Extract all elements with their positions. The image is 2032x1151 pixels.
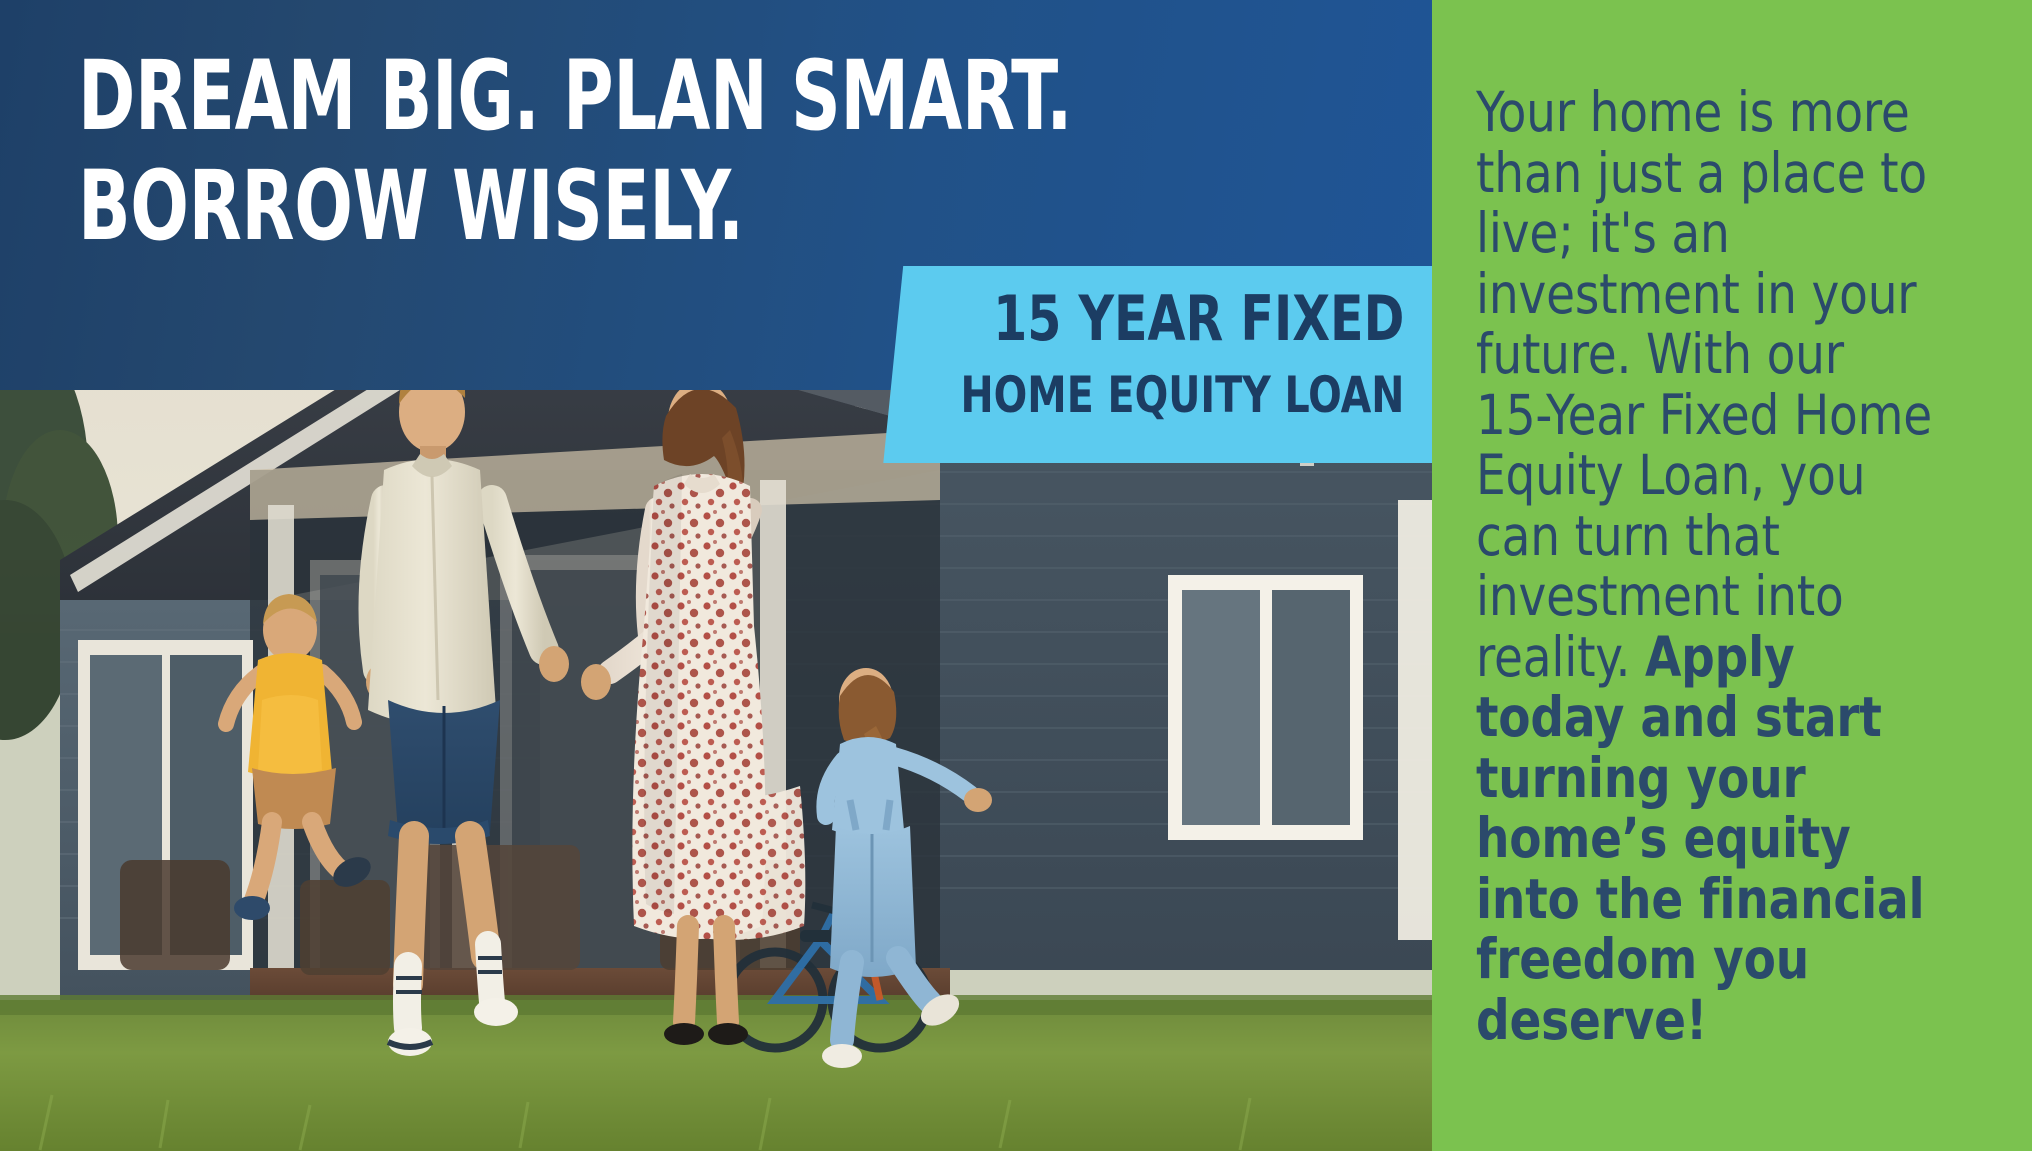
headline-line-2: BORROW WISELY.: [78, 158, 1102, 256]
badge-term-label: 15 YEAR FIXED: [993, 288, 1404, 350]
green-copy-panel: Your home is more than just a place to l…: [1432, 0, 2032, 1151]
panel-body-bold: Apply today and start turning your home’…: [1476, 625, 1924, 1052]
loan-product-badge: 15 YEAR FIXED HOME EQUITY LOAN: [880, 266, 1432, 463]
headline-line-1: DREAM BIG. PLAN SMART.: [78, 48, 1102, 146]
banner-main-area: DREAM BIG. PLAN SMART. BORROW WISELY. 15…: [0, 0, 1432, 1151]
page-headline: DREAM BIG. PLAN SMART. BORROW WISELY.: [78, 48, 1102, 256]
home-equity-loan-banner: DREAM BIG. PLAN SMART. BORROW WISELY. 15…: [0, 0, 2032, 1151]
badge-product-label: HOME EQUITY LOAN: [960, 370, 1404, 420]
panel-body-copy: Your home is more than just a place to l…: [1476, 82, 1932, 1050]
badge-text-wrap: 15 YEAR FIXED HOME EQUITY LOAN: [880, 266, 1432, 463]
panel-body-plain: Your home is more than just a place to l…: [1476, 80, 1932, 689]
